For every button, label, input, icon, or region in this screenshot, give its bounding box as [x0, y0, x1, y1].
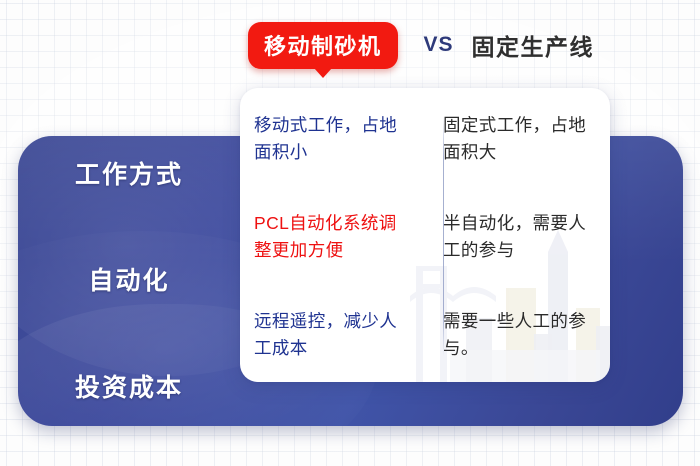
cell-mobile-automation: PCL自动化系统调整更加方便: [254, 210, 409, 264]
column-divider: [443, 116, 444, 356]
vs-label: VS: [424, 33, 454, 57]
fixed-production-line-title: 固定生产线: [472, 28, 595, 62]
cell-fixed-investment-cost: 需要一些人工的参与。: [443, 308, 598, 362]
comparison-columns: 移动式工作，占地面积小 PCL自动化系统调整更加方便 远程遥控，减少人工成本 固…: [240, 88, 610, 382]
header-row: 移动制砂机 VS 固定生产线: [248, 22, 594, 68]
sidebar-item-work-mode: 工作方式: [18, 162, 240, 190]
cell-fixed-automation: 半自动化，需要人工的参与: [443, 210, 598, 264]
mobile-badge-wrapper: 移动制砂机: [248, 22, 398, 69]
column-fixed-production-line: 固定式工作，占地面积大 半自动化，需要人工的参与 需要一些人工的参与。: [419, 112, 610, 362]
column-mobile-sand-maker: 移动式工作，占地面积小 PCL自动化系统调整更加方便 远程遥控，减少人工成本: [240, 112, 419, 362]
comparison-infographic: 工作方式 自动化 投资成本: [0, 0, 700, 466]
mobile-sand-maker-badge: 移动制砂机: [248, 22, 398, 69]
cell-mobile-investment-cost: 远程遥控，减少人工成本: [254, 308, 409, 362]
sidebar-item-investment-cost: 投资成本: [18, 375, 240, 403]
comparison-card: 移动式工作，占地面积小 PCL自动化系统调整更加方便 远程遥控，减少人工成本 固…: [240, 88, 610, 382]
cell-fixed-work-mode: 固定式工作，占地面积大: [443, 112, 598, 166]
badge-pointer-tail: [314, 68, 332, 78]
sidebar-item-automation: 自动化: [18, 268, 240, 296]
cell-mobile-work-mode: 移动式工作，占地面积小: [254, 112, 409, 166]
category-sidebar: 工作方式 自动化 投资成本: [18, 136, 240, 426]
